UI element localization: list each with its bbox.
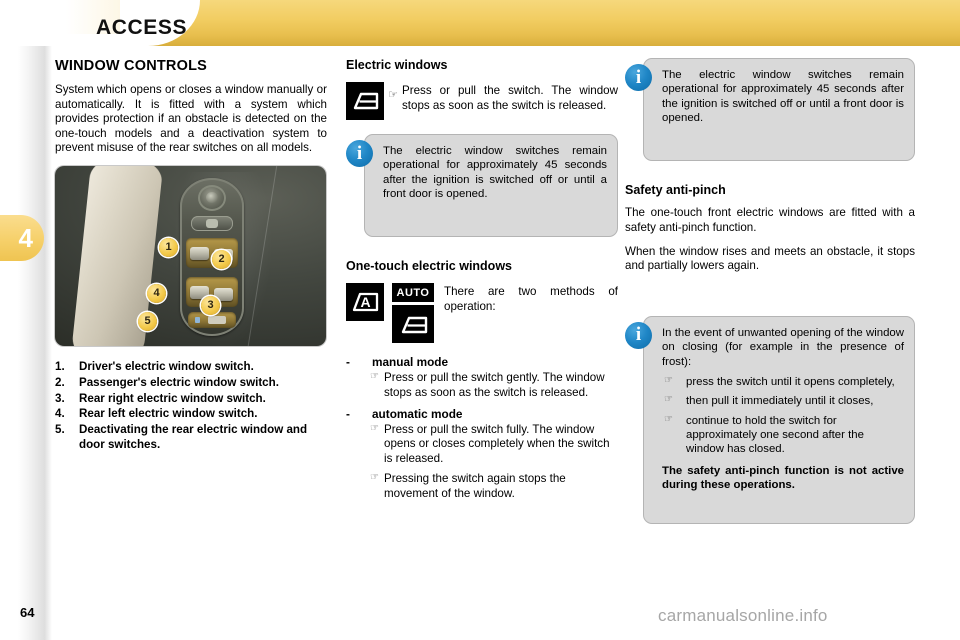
pointing-hand-icon: ☞ xyxy=(370,423,379,436)
manual-mode-items: ☞ Press or pull the switch gently. The w… xyxy=(346,371,618,400)
automatic-mode-dash: - xyxy=(346,407,350,421)
page-title: ACCESS xyxy=(96,16,187,40)
pointing-hand-icon: ☞ xyxy=(664,375,673,388)
site-watermark: carmanualsonline.info xyxy=(658,606,828,626)
legend-text-5: Deactivating the rear electric window an… xyxy=(79,423,307,451)
photo-callout-5: 5 xyxy=(138,312,157,331)
step-text-1: press the switch until it opens complete… xyxy=(686,376,895,388)
info-box-body: The electric window switches remain oper… xyxy=(643,58,915,161)
automatic-mode-heading: - automatic mode xyxy=(346,407,618,421)
automatic-mode-item-2: Pressing the switch again stops the move… xyxy=(384,472,566,500)
info-icon: i xyxy=(625,322,652,349)
list-item: 3. Rear right electric window switch. xyxy=(55,392,327,407)
window-auto-pictogram-icon: A xyxy=(346,283,384,321)
electric-windows-instruction: Press or pull the switch. The window sto… xyxy=(402,82,618,113)
list-item: ☞ press the switch until it opens comple… xyxy=(662,375,904,389)
window-controls-intro: System which opens or closes a window ma… xyxy=(55,83,327,156)
legend-text-4: Rear left electric window switch. xyxy=(79,407,257,420)
page-spine-shadow xyxy=(18,0,52,640)
chapter-tab: 4 xyxy=(0,215,44,261)
right-info-note-top: i The electric window switches remain op… xyxy=(625,58,915,161)
list-item: 5. Deactivating the rear electric window… xyxy=(55,423,327,453)
middle-info-note: i The electric window switches remain op… xyxy=(346,134,618,237)
window-controls-heading: WINDOW CONTROLS xyxy=(55,58,327,74)
list-item: ☞ then pull it immediately until it clos… xyxy=(662,394,904,408)
list-item: ☞ Press or pull the switch gently. The w… xyxy=(346,371,618,400)
window-pictogram-icon-2 xyxy=(392,305,434,343)
one-touch-heading: One-touch electric windows xyxy=(346,259,618,273)
legend-text-3: Rear right electric window switch. xyxy=(79,392,266,405)
pointing-hand-icon: ☞ xyxy=(370,371,379,384)
legend-number-3: 3. xyxy=(55,392,65,407)
legend-number-2: 2. xyxy=(55,376,65,391)
mirror-selector-switch-icon xyxy=(191,216,233,231)
info-box-body: In the event of unwanted opening of the … xyxy=(643,316,915,525)
pointing-hand-icon: ☞ xyxy=(370,472,379,485)
svg-text:A: A xyxy=(360,294,370,310)
electric-windows-instruction-row: ☞ Press or pull the switch. The window s… xyxy=(346,82,618,120)
anti-pinch-warning-note: The safety anti-pinch function is not ac… xyxy=(662,464,904,515)
left-column: WINDOW CONTROLS System which opens or cl… xyxy=(55,58,327,454)
manual-mode-heading: - manual mode xyxy=(346,355,618,369)
unwanted-opening-steps: ☞ press the switch until it opens comple… xyxy=(662,375,904,457)
anti-pinch-paragraph-2: When the window rises and meets an obsta… xyxy=(625,245,915,274)
driver-window-switch-icon xyxy=(190,247,209,260)
info-icon: i xyxy=(625,64,652,91)
info-box-text: The electric window switches remain oper… xyxy=(383,144,607,227)
page-number: 64 xyxy=(20,605,34,620)
legend-number-1: 1. xyxy=(55,360,65,375)
right-info-note-bottom: i In the event of unwanted opening of th… xyxy=(625,316,915,525)
photo-callout-1: 1 xyxy=(159,238,178,257)
list-item: ☞ continue to hold the switch for approx… xyxy=(662,414,904,457)
list-item: 4. Rear left electric window switch. xyxy=(55,407,327,422)
electric-windows-heading: Electric windows xyxy=(346,58,618,72)
list-item: 2. Passenger's electric window switch. xyxy=(55,376,327,391)
manual-mode-label: manual mode xyxy=(372,355,448,369)
window-pictogram-icon xyxy=(346,82,384,120)
pointing-hand-icon: ☞ xyxy=(388,89,398,101)
info-box-intro: In the event of unwanted opening of the … xyxy=(662,326,904,369)
switch-legend-list: 1. Driver's electric window switch. 2. P… xyxy=(55,360,327,453)
safety-anti-pinch-heading: Safety anti-pinch xyxy=(625,183,915,197)
automatic-mode-items: ☞ Press or pull the switch fully. The wi… xyxy=(346,423,618,502)
pointing-hand-icon: ☞ xyxy=(664,394,673,407)
anti-pinch-paragraph-1: The one-touch front electric windows are… xyxy=(625,206,915,235)
middle-column: Electric windows ☞ Press or pull the swi… xyxy=(346,58,618,508)
list-item: ☞ Pressing the switch again stops the mo… xyxy=(346,472,618,501)
pointing-hand-icon: ☞ xyxy=(664,414,673,427)
info-icon: i xyxy=(346,140,373,167)
info-box-text: The electric window switches remain oper… xyxy=(662,68,904,151)
manual-mode-block: - manual mode ☞ Press or pull the switch… xyxy=(346,355,618,400)
manual-mode-item-1: Press or pull the switch gently. The win… xyxy=(384,371,605,399)
info-box-body: The electric window switches remain oper… xyxy=(364,134,618,237)
door-panel-photo: 1 2 3 4 5 xyxy=(55,166,326,346)
automatic-mode-label: automatic mode xyxy=(372,407,462,421)
chapter-number: 4 xyxy=(19,225,33,251)
list-item: ☞ Press or pull the switch fully. The wi… xyxy=(346,423,618,467)
legend-number-4: 4. xyxy=(55,407,65,422)
step-text-3: continue to hold the switch for approxim… xyxy=(686,415,864,456)
automatic-mode-block: - automatic mode ☞ Press or pull the swi… xyxy=(346,407,618,502)
photo-callout-2: 2 xyxy=(212,250,231,269)
legend-text-2: Passenger's electric window switch. xyxy=(79,376,279,389)
step-text-2: then pull it immediately until it closes… xyxy=(686,395,873,407)
mirror-adjust-knob-icon xyxy=(198,185,226,211)
manual-mode-dash: - xyxy=(346,355,350,369)
photo-callout-4: 4 xyxy=(147,284,166,303)
legend-text-1: Driver's electric window switch. xyxy=(79,360,254,373)
list-item: 1. Driver's electric window switch. xyxy=(55,360,327,375)
right-column: i The electric window switches remain op… xyxy=(625,58,915,524)
one-touch-icon-row: A AUTO There are two methods of operatio… xyxy=(346,283,618,343)
methods-intro-text: There are two methods of operation: xyxy=(434,283,618,314)
legend-number-5: 5. xyxy=(55,423,65,438)
automatic-mode-item-1: Press or pull the switch fully. The wind… xyxy=(384,423,610,465)
auto-badge-icon: AUTO xyxy=(392,283,434,302)
photo-callout-3: 3 xyxy=(201,296,220,315)
